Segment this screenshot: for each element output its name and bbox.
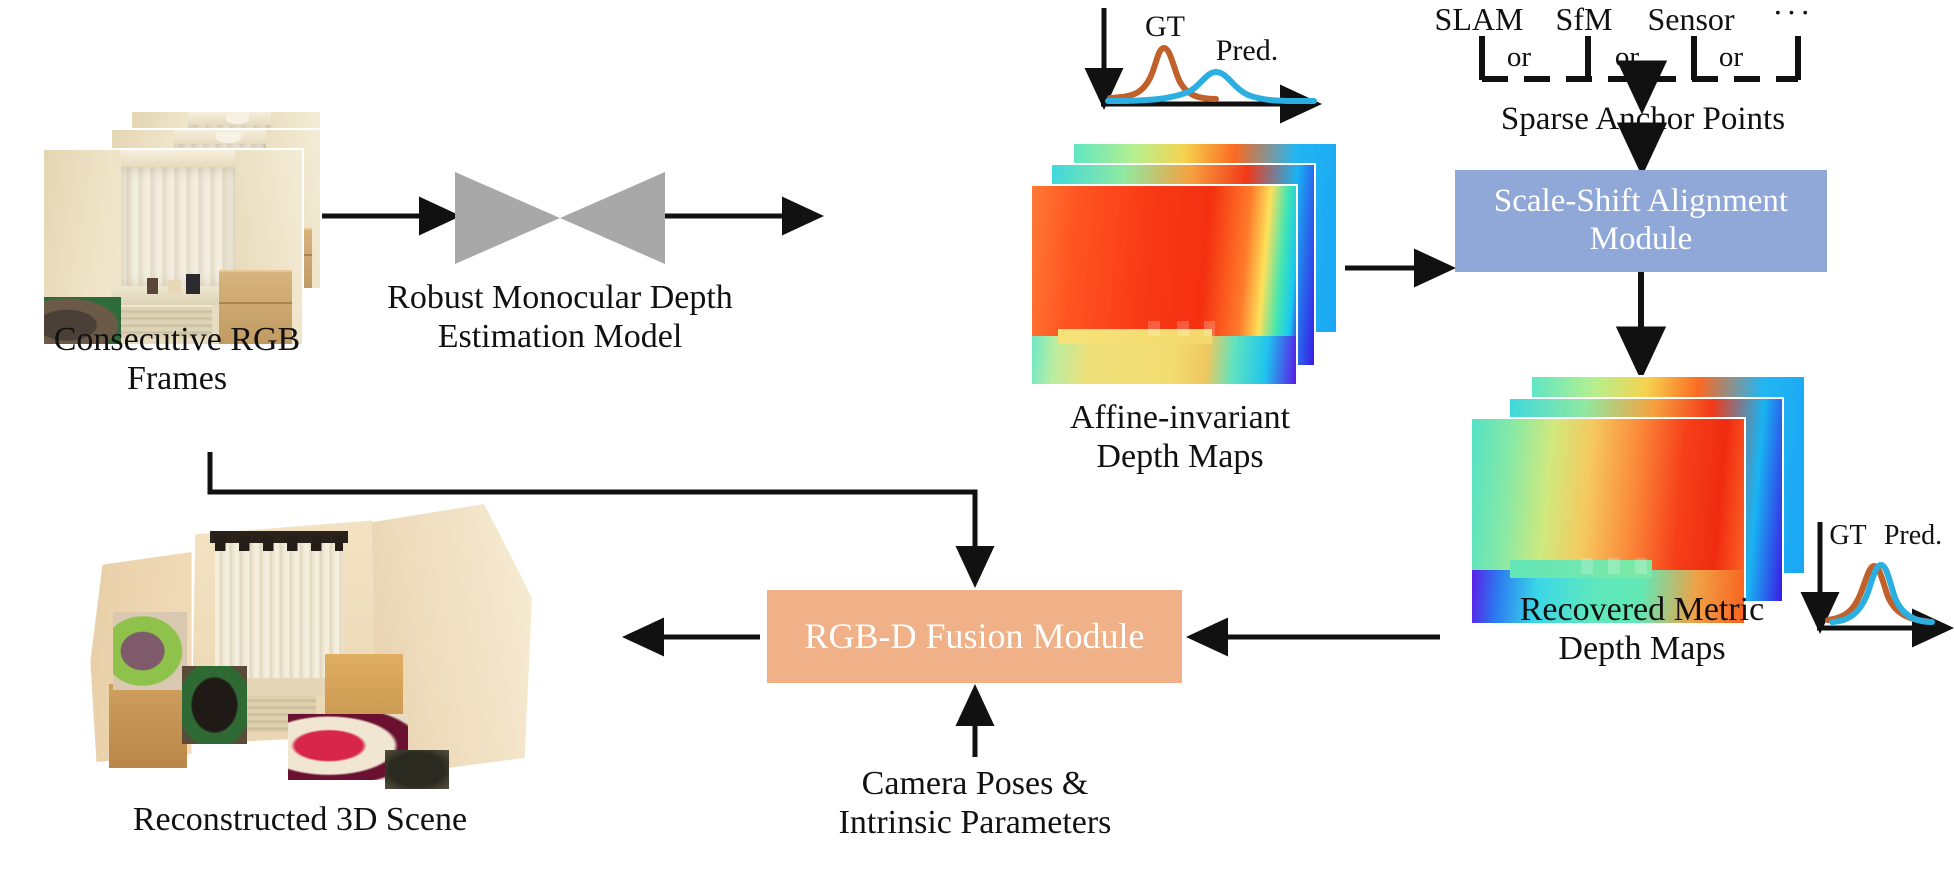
reconstructed-3d-scene-caption: Reconstructed 3D Scene <box>60 800 540 839</box>
rgb-frame-front <box>42 148 304 346</box>
rgbd-fusion-module[interactable]: RGB-D Fusion Module <box>767 590 1182 683</box>
sparse-anchor-points-label: Sparse Anchor Points <box>1452 100 1834 138</box>
affine-histogram-series-gt <box>1110 48 1216 99</box>
anchor-source-slam: SLAM <box>1424 1 1534 38</box>
reconstructed-3d-scene[interactable] <box>72 498 532 798</box>
affine-depth-maps-caption: Affine-invariant Depth Maps <box>1020 398 1340 477</box>
anchor-source-ellipsis: ··· <box>1758 0 1828 31</box>
metric-histogram-legend-gt: GT <box>1820 520 1876 552</box>
affine-histogram-chart: GT Pred. <box>1090 4 1326 116</box>
affine-depth-map-front <box>1030 184 1298 386</box>
metric-histogram-chart: GT Pred. <box>1806 516 1954 642</box>
affine-histogram-legend-gt: GT <box>1132 10 1198 45</box>
anchor-bracket-icon <box>1424 34 1864 88</box>
depth-model-hourglass-icon[interactable] <box>455 172 665 264</box>
anchor-source-sensor: Sensor <box>1628 1 1754 38</box>
rgbd-fusion-module-label: RGB-D Fusion Module <box>767 590 1182 683</box>
affine-histogram-legend-pred: Pred. <box>1202 34 1292 69</box>
diagram-canvas: SLAM SfM Sensor ··· or or or Sparse Anch… <box>0 0 1954 882</box>
consecutive-rgb-frames-caption: Consecutive RGB Frames <box>0 320 354 399</box>
affine-depth-maps-stack[interactable] <box>1030 110 1350 400</box>
depth-model-caption: Robust Monocular Depth Estimation Model <box>380 278 740 357</box>
metric-histogram-legend-pred: Pred. <box>1872 520 1954 552</box>
metric-depth-maps-caption: Recovered Metric Depth Maps <box>1452 590 1832 669</box>
camera-parameters-caption: Camera Poses & Intrinsic Parameters <box>790 764 1160 843</box>
anchor-source-sfm: SfM <box>1542 1 1626 38</box>
scale-shift-alignment-module[interactable]: Scale-Shift Alignment Module <box>1455 170 1827 272</box>
anchor-sources-group: SLAM SfM Sensor ··· or or or <box>1424 0 1864 100</box>
consecutive-rgb-frames-stack[interactable] <box>32 110 332 310</box>
scale-shift-alignment-module-label: Scale-Shift Alignment Module <box>1455 170 1827 272</box>
